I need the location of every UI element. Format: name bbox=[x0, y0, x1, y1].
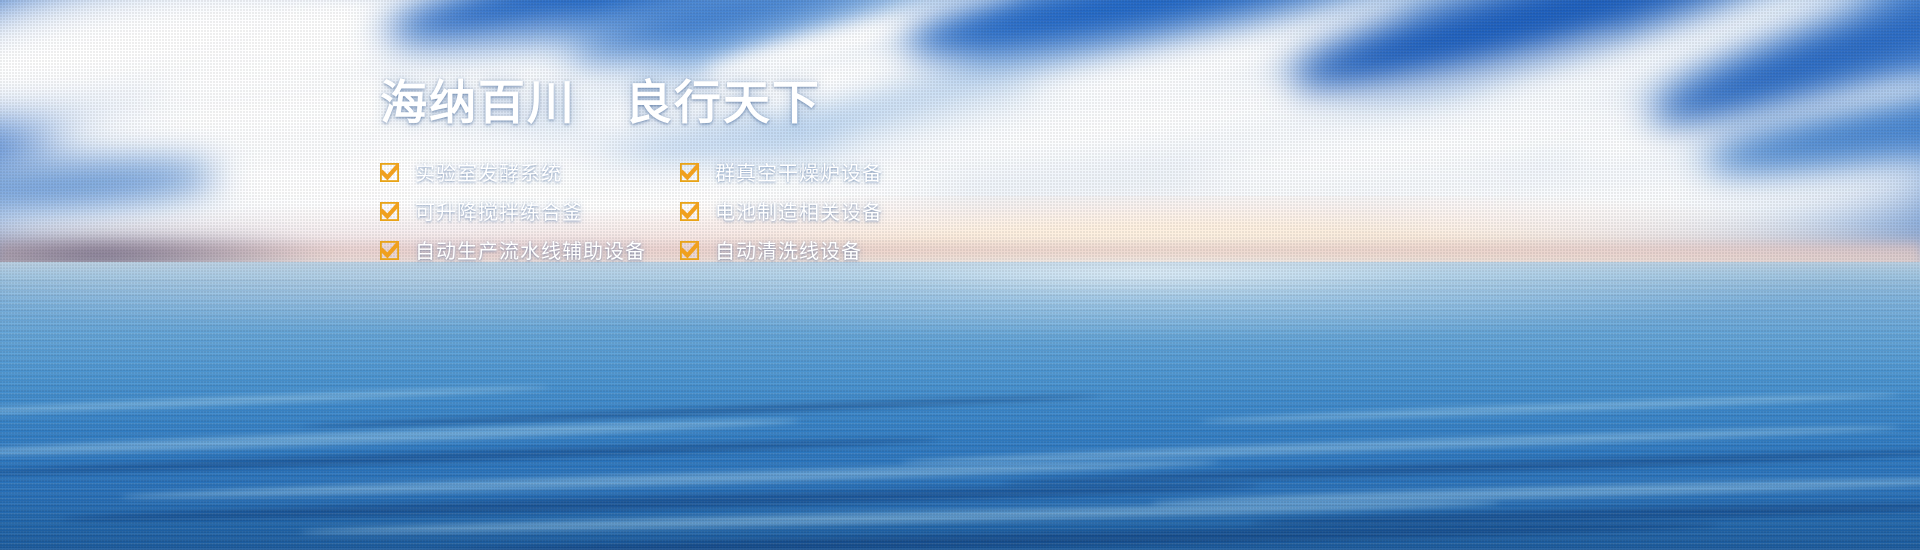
hero-banner: 海纳百川 良行天下 实验室发酵系统 bbox=[0, 0, 1920, 550]
list-item-label: 电池制造相关设备 bbox=[715, 202, 883, 222]
feature-list-left-column: 实验室发酵系统 可升降搅拌练合釜 bbox=[380, 155, 680, 272]
list-item[interactable]: 实验室发酵系统 bbox=[380, 155, 680, 191]
list-item-label: 群真空干燥炉设备 bbox=[715, 163, 883, 183]
list-item-label: 自动清洗线设备 bbox=[715, 241, 862, 261]
check-square-icon bbox=[380, 163, 399, 182]
check-square-icon bbox=[680, 163, 699, 182]
list-item-label: 自动生产流水线辅助设备 bbox=[415, 241, 646, 261]
list-item[interactable]: 自动清洗线设备 bbox=[680, 233, 980, 269]
list-item[interactable]: 电池制造相关设备 bbox=[680, 194, 980, 230]
list-item[interactable]: 可升降搅拌练合釜 bbox=[380, 194, 680, 230]
feature-list: 实验室发酵系统 可升降搅拌练合釜 bbox=[380, 155, 1160, 272]
feature-list-right-column: 群真空干燥炉设备 电池制造相关设备 bbox=[680, 155, 980, 272]
list-item-label: 可升降搅拌练合釜 bbox=[415, 202, 583, 222]
list-item-label: 实验室发酵系统 bbox=[415, 163, 562, 183]
check-square-icon bbox=[380, 241, 399, 260]
ocean-background bbox=[0, 262, 1920, 550]
list-item[interactable]: 群真空干燥炉设备 bbox=[680, 155, 980, 191]
list-item[interactable]: 自动生产流水线辅助设备 bbox=[380, 233, 680, 269]
check-square-icon bbox=[680, 202, 699, 221]
check-square-icon bbox=[380, 202, 399, 221]
banner-content: 海纳百川 良行天下 实验室发酵系统 bbox=[380, 78, 1160, 272]
check-square-icon bbox=[680, 241, 699, 260]
banner-headline: 海纳百川 良行天下 bbox=[380, 78, 1160, 131]
